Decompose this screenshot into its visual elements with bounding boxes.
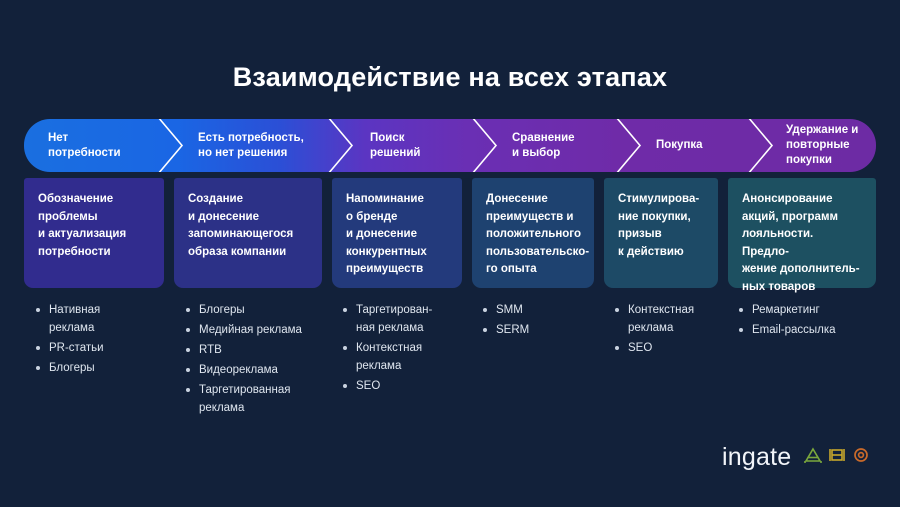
list-item: RTB (183, 341, 333, 359)
bullet-column-6: Ремаркетинг Email-рассылка (736, 301, 884, 341)
stage-label: Есть потребность, но нет решения (198, 131, 304, 161)
stage-card-4: Донесение преимуществ и положительного п… (472, 178, 594, 288)
list-item: Блогеры (33, 359, 173, 377)
square-mark-icon (827, 446, 847, 469)
list-item: Таргетированная реклама (183, 381, 333, 417)
stage-card-text: Обозначение проблемы и актуализация потр… (38, 191, 150, 261)
stage-card-text: Напоминание о бренде и донесение конкуре… (346, 191, 448, 279)
bullet-column-3: Таргетирован- ная реклама Контекстная ре… (340, 301, 470, 397)
list-item: SEO (612, 339, 728, 357)
stage-card-5: Стимулирова- ние покупки, призыв к дейст… (604, 178, 718, 288)
list-item: Контекстная реклама (612, 301, 728, 337)
list-item: Таргетирован- ная реклама (340, 301, 470, 337)
list-item: Нативная реклама (33, 301, 173, 337)
stage-card-1: Обозначение проблемы и актуализация потр… (24, 178, 164, 288)
stage-card-2: Создание и донесение запоминающегося обр… (174, 178, 322, 288)
list-item: PR-статьи (33, 339, 173, 357)
stage-card-6: Анонсирование акций, программ лояльности… (728, 178, 876, 288)
stage-segment-5[interactable]: Покупка (634, 119, 766, 172)
list-item: Блогеры (183, 301, 333, 319)
list-item: Медийная реклама (183, 321, 333, 339)
stage-card-text: Анонсирование акций, программ лояльности… (742, 191, 862, 296)
list-item: Видеореклама (183, 361, 333, 379)
stage-label: Нет потребности (48, 131, 121, 161)
list-item: SMM (480, 301, 600, 319)
brand-logo: ingate (722, 443, 871, 472)
stage-segment-6[interactable]: Удержание и повторные покупки (766, 119, 876, 172)
stage-segment-2[interactable]: Есть потребность, но нет решения (176, 119, 346, 172)
triangle-mark-icon (803, 446, 823, 469)
logo-marks (803, 446, 871, 469)
list-item: Email-рассылка (736, 321, 884, 339)
stage-label: Покупка (656, 138, 703, 153)
stage-segment-4[interactable]: Сравнение и выбор (490, 119, 634, 172)
stage-banner: Нет потребности Есть потребность, но нет… (24, 119, 876, 172)
bullet-column-5: Контекстная реклама SEO (612, 301, 728, 359)
bullet-column-4: SMM SERM (480, 301, 600, 341)
list-item: SERM (480, 321, 600, 339)
page-title: Взаимодействие на всех этапах (0, 62, 900, 93)
stage-segment-1[interactable]: Нет потребности (24, 119, 176, 172)
bullet-column-2: Блогеры Медийная реклама RTB Видеореклам… (183, 301, 333, 419)
slide-root: Взаимодействие на всех этапах Нет потреб… (0, 0, 900, 507)
stage-card-text: Создание и донесение запоминающегося обр… (188, 191, 308, 261)
stage-card-3: Напоминание о бренде и донесение конкуре… (332, 178, 462, 288)
stage-label: Сравнение и выбор (512, 131, 575, 161)
list-item: SEO (340, 377, 470, 395)
stage-label: Удержание и повторные покупки (786, 123, 876, 168)
circle-mark-icon (851, 446, 871, 469)
list-item: Ремаркетинг (736, 301, 884, 319)
stage-card-text: Стимулирова- ние покупки, призыв к дейст… (618, 191, 704, 261)
stage-card-text: Донесение преимуществ и положительного п… (486, 191, 580, 279)
list-item: Контекстная реклама (340, 339, 470, 375)
logo-wordmark: ingate (722, 443, 791, 472)
stage-segment-3[interactable]: Поиск решений (346, 119, 490, 172)
bullet-column-1: Нативная реклама PR-статьи Блогеры (33, 301, 173, 379)
stage-label: Поиск решений (370, 131, 421, 161)
